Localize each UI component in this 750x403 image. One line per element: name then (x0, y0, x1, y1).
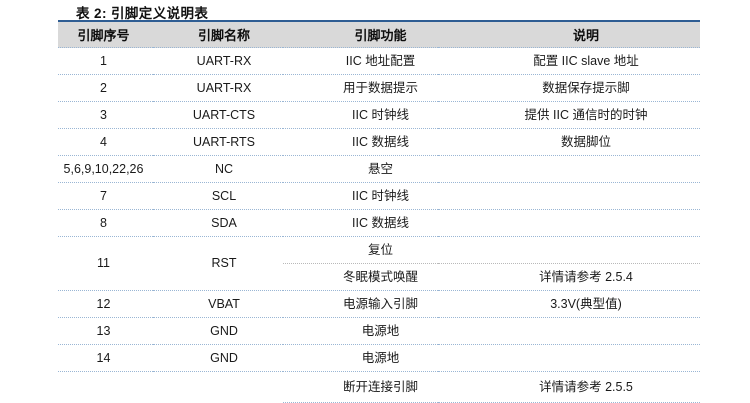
cell-pin-number: 13 (58, 318, 153, 345)
cell-description (438, 183, 700, 210)
cell-pin-number: 1 (58, 48, 153, 75)
cell-pin-name: UART-RTS (153, 129, 283, 156)
cell-pin-number: 5,6,9,10,22,26 (58, 156, 153, 183)
cell-pin-name: UART-RX (153, 75, 283, 102)
table-row: 8SDAIIC 数据线 (58, 210, 700, 237)
table-row: 断开连接引脚详情请参考 2.5.5 (58, 372, 700, 403)
cell-pin-function: 电源输入引脚 (283, 291, 438, 318)
cell-pin-name: GND (153, 345, 283, 372)
cell-pin-function: 悬空 (283, 156, 438, 183)
cell-pin-function: 用于数据提示 (283, 75, 438, 102)
cell-description (438, 210, 700, 237)
cell-description: 数据脚位 (438, 129, 700, 156)
table-row: 14GND电源地 (58, 345, 700, 372)
cell-pin-name (153, 372, 283, 403)
cell-pin-name: SCL (153, 183, 283, 210)
table-header: 引脚序号 引脚名称 引脚功能 说明 (58, 21, 700, 48)
table-row: 12VBAT电源输入引脚3.3V(典型值) (58, 291, 700, 318)
cell-pin-function: 电源地 (283, 318, 438, 345)
table-row: 1UART-RXIIC 地址配置配置 IIC slave 地址 (58, 48, 700, 75)
table-row: 7SCLIIC 时钟线 (58, 183, 700, 210)
cell-description (438, 318, 700, 345)
cell-pin-function: 电源地 (283, 345, 438, 372)
cell-pin-function: 复位 (283, 237, 438, 264)
table-row: 5,6,9,10,22,26NC悬空 (58, 156, 700, 183)
table-header-row: 引脚序号 引脚名称 引脚功能 说明 (58, 21, 700, 48)
cell-pin-function: IIC 地址配置 (283, 48, 438, 75)
cell-description: 详情请参考 2.5.5 (438, 372, 700, 403)
cell-pin-function: 断开连接引脚 (283, 372, 438, 403)
cell-pin-function: IIC 时钟线 (283, 102, 438, 129)
cell-pin-number: 3 (58, 102, 153, 129)
cell-pin-name: RST (153, 237, 283, 291)
document-page: 表 2: 引脚定义说明表 引脚序号 引脚名称 引脚功能 说明 1UART-RXI… (0, 0, 750, 402)
cell-description (438, 345, 700, 372)
cell-description: 数据保存提示脚 (438, 75, 700, 102)
cell-pin-number: 8 (58, 210, 153, 237)
cell-pin-name: SDA (153, 210, 283, 237)
cell-pin-function: IIC 时钟线 (283, 183, 438, 210)
cell-pin-number: 7 (58, 183, 153, 210)
cell-pin-name: VBAT (153, 291, 283, 318)
cell-pin-function: IIC 数据线 (283, 210, 438, 237)
table-body: 1UART-RXIIC 地址配置配置 IIC slave 地址2UART-RX用… (58, 48, 700, 403)
pin-definition-table: 引脚序号 引脚名称 引脚功能 说明 1UART-RXIIC 地址配置配置 IIC… (58, 20, 700, 403)
column-header-pin-name: 引脚名称 (153, 21, 283, 48)
pin-definition-table-wrapper: 引脚序号 引脚名称 引脚功能 说明 1UART-RXIIC 地址配置配置 IIC… (58, 20, 700, 403)
cell-description (438, 156, 700, 183)
column-header-description: 说明 (438, 21, 700, 48)
cell-pin-name: GND (153, 318, 283, 345)
cell-description: 详情请参考 2.5.4 (438, 264, 700, 291)
cell-description (438, 237, 700, 264)
cell-pin-function: IIC 数据线 (283, 129, 438, 156)
table-row: 3UART-CTSIIC 时钟线提供 IIC 通信时的时钟 (58, 102, 700, 129)
cell-description: 提供 IIC 通信时的时钟 (438, 102, 700, 129)
column-header-pin-number: 引脚序号 (58, 21, 153, 48)
cell-description: 3.3V(典型值) (438, 291, 700, 318)
table-caption: 表 2: 引脚定义说明表 (76, 2, 208, 22)
cell-pin-number: 14 (58, 345, 153, 372)
cell-pin-number: 12 (58, 291, 153, 318)
cell-pin-number: 4 (58, 129, 153, 156)
table-row: 11RST复位 (58, 237, 700, 264)
cell-pin-name: UART-CTS (153, 102, 283, 129)
table-row: 13GND电源地 (58, 318, 700, 345)
column-header-pin-function: 引脚功能 (283, 21, 438, 48)
cell-pin-number: 11 (58, 237, 153, 291)
cell-pin-function: 冬眠模式唤醒 (283, 264, 438, 291)
cell-pin-number (58, 372, 153, 403)
cell-pin-name: UART-RX (153, 48, 283, 75)
cell-pin-name: NC (153, 156, 283, 183)
table-row: 2UART-RX用于数据提示数据保存提示脚 (58, 75, 700, 102)
cell-pin-number: 2 (58, 75, 153, 102)
cell-description: 配置 IIC slave 地址 (438, 48, 700, 75)
table-row: 4UART-RTSIIC 数据线数据脚位 (58, 129, 700, 156)
